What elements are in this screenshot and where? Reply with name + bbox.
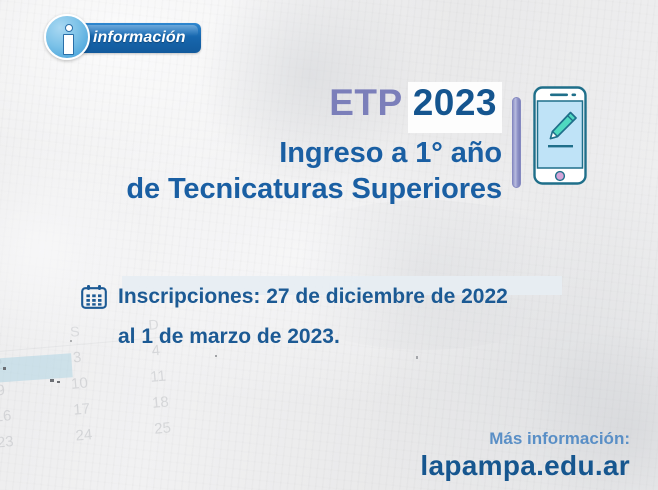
watermark-date: 11 <box>142 363 174 392</box>
pencil-underline <box>548 145 573 147</box>
info-i-stem <box>63 34 74 55</box>
calendar-icon <box>80 284 108 310</box>
poster-canvas: V S D 2 3 4 9 10 11 16 17 18 23 24 <box>0 0 658 490</box>
watermark-day: V <box>0 324 12 353</box>
calendar-tab-left <box>87 285 90 290</box>
inscriptions-row: Inscripciones: 27 de diciembre de 2022 <box>80 284 508 310</box>
watermark-date: 9 <box>0 377 17 406</box>
headline-line-3: de Tecnicaturas Superiores <box>20 171 502 207</box>
phone-home-button <box>556 172 565 181</box>
info-i-icon <box>44 14 90 60</box>
watermark-date: 3 <box>61 344 93 373</box>
paper-texture-base <box>0 0 658 490</box>
informacion-badge: información <box>44 14 204 60</box>
watermark-date: 16 <box>0 403 19 432</box>
footer-block: Más información: lapampa.edu.ar <box>300 428 630 482</box>
more-info-label: Más información: <box>300 428 630 450</box>
dust-speck <box>70 340 72 342</box>
dust-speck <box>57 381 60 383</box>
watermark-date: 24 <box>68 422 100 451</box>
smartphone-pencil-icon <box>533 86 587 185</box>
website-url[interactable]: lapampa.edu.ar <box>300 450 630 482</box>
phone-earpiece <box>550 94 568 97</box>
inscriptions-line-2: al 1 de marzo de 2023. <box>118 325 340 349</box>
vertical-divider-bar <box>512 97 521 188</box>
watermark-date: 10 <box>63 370 95 399</box>
watermark-row: 23 24 25 <box>0 414 185 457</box>
watermark-row: 16 17 18 <box>0 388 182 431</box>
watermark-date: 2 <box>0 351 15 380</box>
headline-line-1: ETP2023 <box>20 82 502 133</box>
dust-speck <box>50 379 54 382</box>
dust-speck <box>3 367 6 370</box>
dust-speck <box>416 356 418 359</box>
inscriptions-line-1: Inscripciones: 27 de diciembre de 2022 <box>118 285 508 309</box>
watermark-grid: 2 3 4 9 10 11 16 17 18 23 24 25 <box>0 336 185 458</box>
watermark-date: 25 <box>147 415 179 444</box>
dust-speck <box>215 355 217 357</box>
watermark-date: 23 <box>0 429 21 458</box>
program-acronym: ETP <box>329 82 402 123</box>
calendar-tab-right <box>98 285 101 290</box>
info-i-dot <box>65 24 73 32</box>
paper-texture-grain <box>0 0 658 490</box>
headline-block: ETP2023 Ingreso a 1° año de Tecnicaturas… <box>20 82 502 207</box>
program-year: 2023 <box>413 82 497 123</box>
watermark-date: 18 <box>144 389 176 418</box>
headline-line-2: Ingreso a 1° año <box>20 135 502 171</box>
year-highlight: 2023 <box>408 82 502 133</box>
phone-camera <box>572 94 577 97</box>
calendar-dots <box>86 294 101 305</box>
blue-tape-strip <box>0 353 73 382</box>
badge-label: información <box>93 29 201 47</box>
watermark-date: 17 <box>66 396 98 425</box>
watermark-day: S <box>59 317 91 346</box>
watermark-row: 9 10 11 <box>0 362 180 405</box>
